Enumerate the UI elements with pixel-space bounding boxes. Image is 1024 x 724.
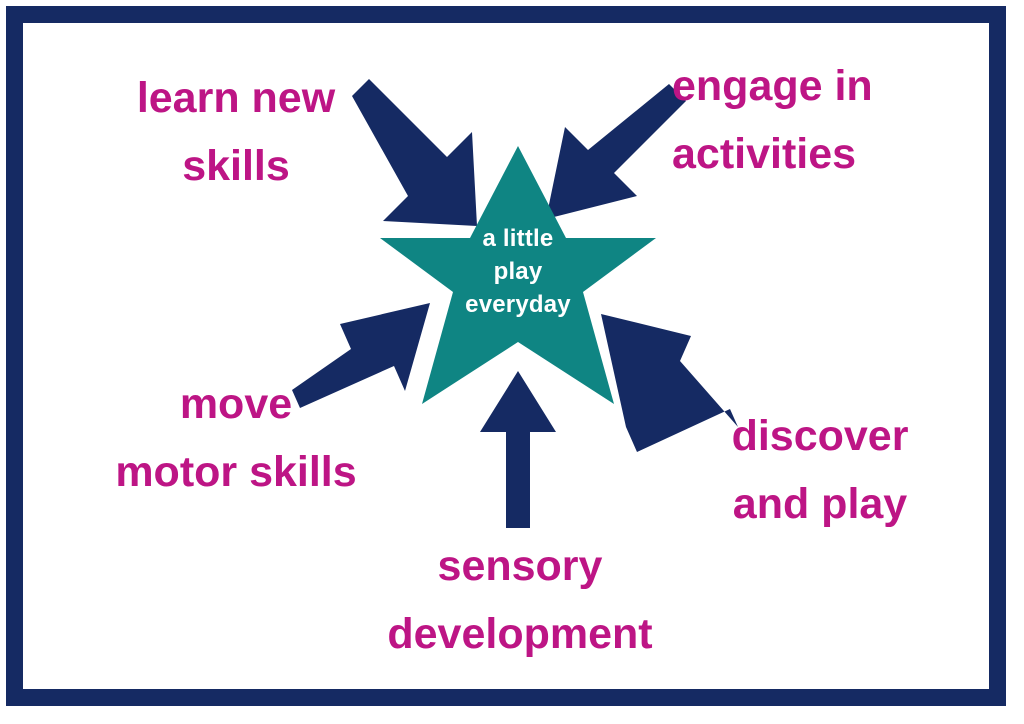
center-star: a little play everyday	[378, 142, 658, 412]
label-sensory-development: sensory development	[368, 532, 672, 668]
label-sensory-development-line-1: sensory	[368, 532, 672, 600]
label-discover-and-play-line-1: discover	[712, 402, 928, 470]
label-engage-in-activities-line-1: engage in	[672, 52, 932, 120]
label-learn-new-skills-line-1: learn new	[120, 64, 352, 132]
label-discover-and-play: discover and play	[712, 402, 928, 538]
center-star-line-1: a little	[378, 222, 658, 255]
center-star-text: a little play everyday	[378, 222, 658, 321]
label-move-motor-skills-line-1: move	[96, 370, 376, 438]
label-learn-new-skills-line-2: skills	[120, 132, 352, 200]
label-move-motor-skills-line-2: motor skills	[96, 438, 376, 506]
poster-canvas: a little play everyday learn new skills …	[0, 0, 1024, 724]
label-engage-in-activities-line-2: activities	[672, 120, 932, 188]
label-engage-in-activities: engage in activities	[672, 52, 932, 188]
label-learn-new-skills: learn new skills	[120, 64, 352, 200]
center-star-line-2: play	[378, 255, 658, 288]
label-move-motor-skills: move motor skills	[96, 370, 376, 506]
label-sensory-development-line-2: development	[368, 600, 672, 668]
center-star-line-3: everyday	[378, 288, 658, 321]
label-discover-and-play-line-2: and play	[712, 470, 928, 538]
